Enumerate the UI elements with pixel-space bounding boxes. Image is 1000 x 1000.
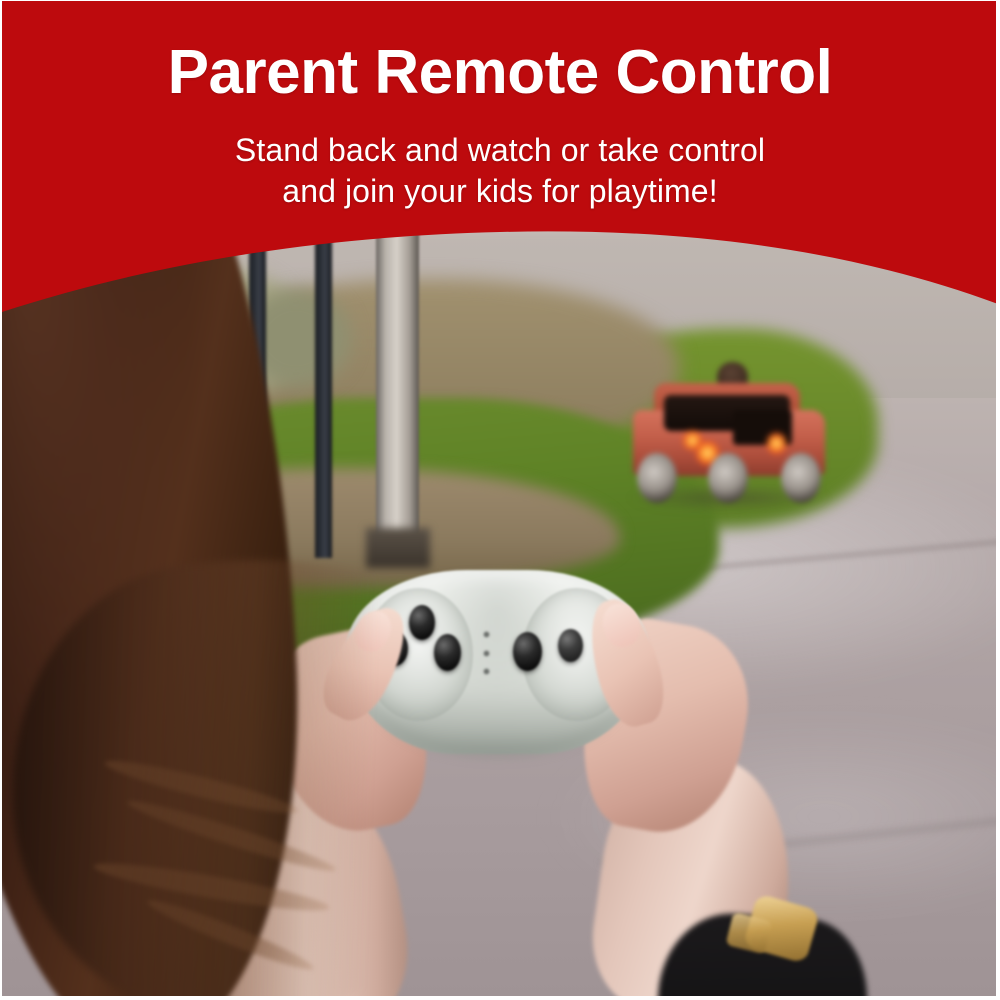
car-wheel bbox=[781, 453, 821, 503]
remote-button-main[interactable] bbox=[513, 632, 542, 671]
remote-button-secondary[interactable] bbox=[558, 629, 582, 662]
car-wheel bbox=[708, 453, 748, 503]
car-wheel bbox=[637, 453, 677, 503]
subtitle-line-2: and join your kids for playtime! bbox=[0, 171, 1000, 212]
car-taillight bbox=[767, 433, 786, 453]
column-base bbox=[366, 528, 431, 568]
page-title: Parent Remote Control bbox=[0, 42, 1000, 104]
page-subtitle: Stand back and watch or take control and… bbox=[0, 130, 1000, 212]
ride-on-toy-car bbox=[625, 378, 834, 498]
banner-text-block: Parent Remote Control Stand back and wat… bbox=[0, 0, 1000, 212]
subtitle-line-1: Stand back and watch or take control bbox=[0, 130, 1000, 171]
promo-image: Parent Remote Control Stand back and wat… bbox=[0, 0, 1000, 1000]
